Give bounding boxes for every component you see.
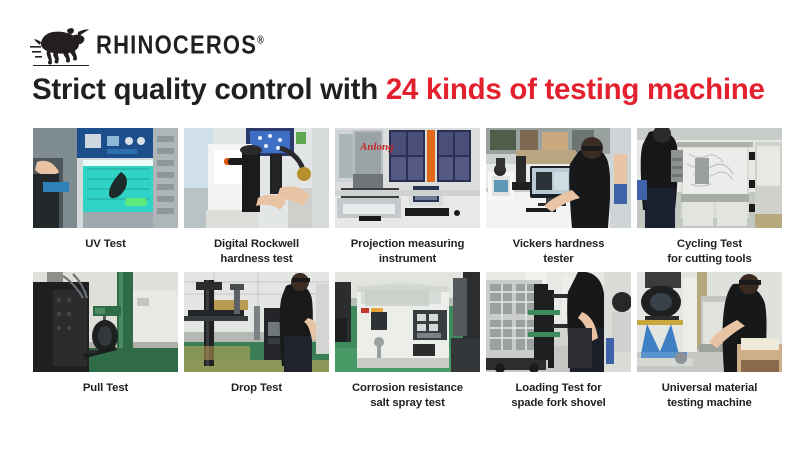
registered-trademark-mark: ® [257, 34, 264, 46]
gallery-item-cycling-test[interactable]: Cycling Testfor cutting tools [637, 128, 782, 269]
testing-machine-gallery: UV Test [33, 128, 767, 416]
gallery-item-caption: Drop Test [184, 381, 329, 413]
gallery-item-projection-measuring[interactable]: Anlong Projection measuringinstrument [335, 128, 480, 269]
loading-test-spade-fork-shovel-photo [486, 272, 631, 372]
gallery-item-pull-test[interactable]: Pull Test [33, 272, 178, 413]
cycling-test-cutting-tools-photo [637, 128, 782, 228]
pull-test-rig-photo [33, 272, 178, 372]
gallery-item-salt-spray[interactable]: Corrosion resistancesalt spray test [335, 272, 480, 413]
gallery-row: UV Test [33, 128, 767, 269]
gallery-item-caption: Vickers hardnesstester [486, 237, 631, 269]
salt-spray-chamber-photo [335, 272, 480, 372]
projection-measuring-instrument-photo: Anlong [335, 128, 480, 228]
gallery-item-loading-test[interactable]: Loading Test forspade fork shovel [486, 272, 631, 413]
page-title-accent: 24 kinds of testing machine [386, 73, 765, 106]
gallery-item-caption: Cycling Testfor cutting tools [637, 237, 782, 269]
gallery-item-caption: UV Test [33, 237, 178, 269]
gallery-item-universal-material[interactable]: Universal materialtesting machine [637, 272, 782, 413]
gallery-item-caption: Corrosion resistancesalt spray test [335, 381, 480, 413]
gallery-item-caption: Projection measuringinstrument [335, 237, 480, 269]
gallery-item-caption: Digital Rockwellhardness test [184, 237, 329, 269]
digital-rockwell-hardness-tester-photo [184, 128, 329, 228]
universal-material-testing-machine-photo [637, 272, 782, 372]
drop-test-tower-photo [184, 272, 329, 372]
gallery-item-caption: Loading Test forspade fork shovel [486, 381, 631, 413]
page-title: Strict quality control with 24 kinds of … [32, 74, 772, 106]
page-title-lead: Strict quality control with [32, 73, 386, 106]
gallery-item-uv-test[interactable]: UV Test [33, 128, 178, 269]
gallery-item-caption: Universal materialtesting machine [637, 381, 782, 413]
brand-name: RHINOCEROS® [96, 32, 264, 58]
gallery-item-vickers-hardness[interactable]: Vickers hardnesstester [486, 128, 631, 269]
gallery-item-caption: Pull Test [33, 381, 178, 413]
brand-logo: RHINOCEROS® [30, 22, 264, 68]
svg-text:Anlong: Anlong [359, 141, 394, 153]
vickers-hardness-tester-photo [486, 128, 631, 228]
rhinoceros-logo-icon [30, 23, 92, 67]
gallery-row: Pull Test [33, 272, 767, 413]
gallery-item-digital-rockwell[interactable]: Digital Rockwellhardness test [184, 128, 329, 269]
uv-test-chamber-photo [33, 128, 178, 228]
gallery-item-drop-test[interactable]: Drop Test [184, 272, 329, 413]
